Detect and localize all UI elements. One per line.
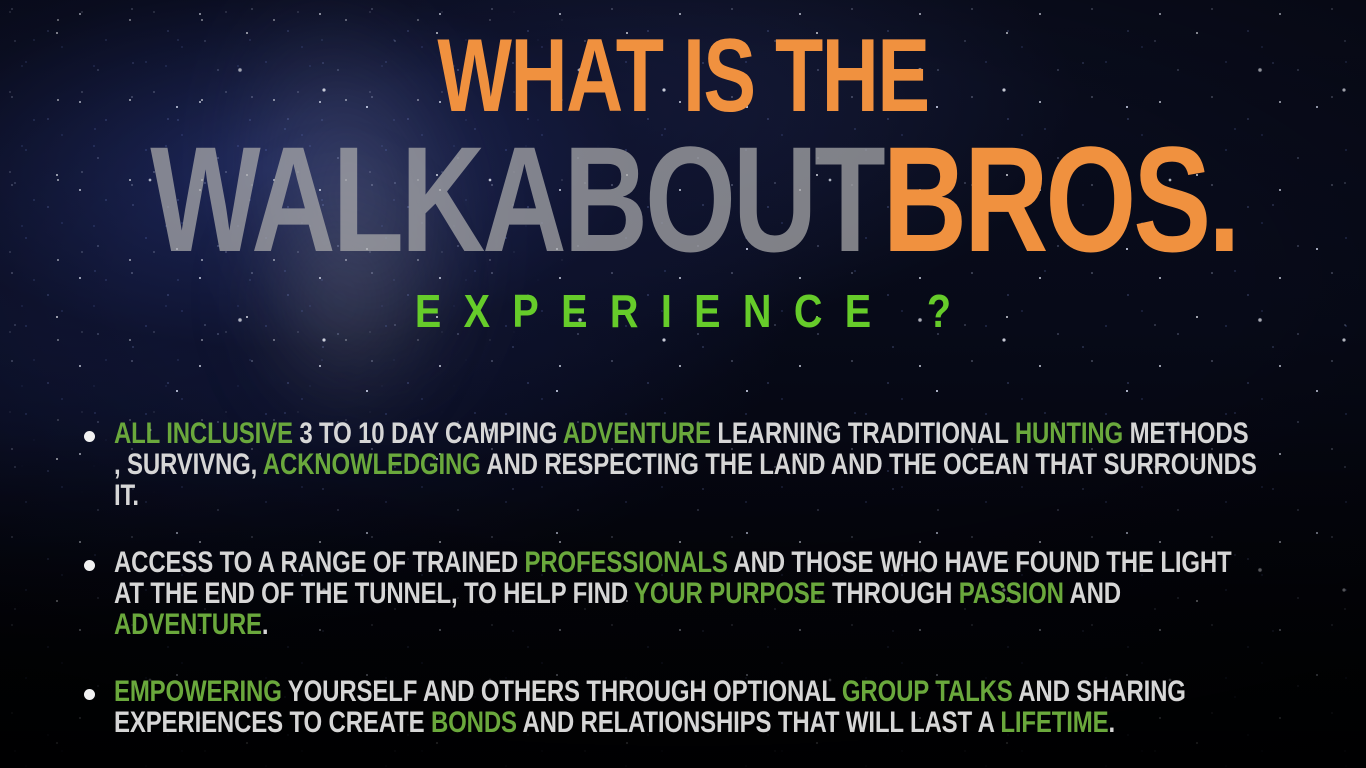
list-item: ALL INCLUSIVE 3 TO 10 DAY CAMPING ADVENT… xyxy=(78,418,1258,511)
body-phrase: AND RELATIONSHIPS THAT WILL LAST A xyxy=(517,706,1001,739)
list-item: ACCESS TO A RANGE OF TRAINED PROFESSIONA… xyxy=(78,547,1258,640)
body-phrase: LEARNING TRADITIONAL xyxy=(711,417,1015,450)
bullet-list: ALL INCLUSIVE 3 TO 10 DAY CAMPING ADVENT… xyxy=(78,418,1258,768)
logo-bros-text: BROS. xyxy=(883,115,1238,283)
bullet-text-access-professionals: ACCESS TO A RANGE OF TRAINED PROFESSIONA… xyxy=(114,547,1258,640)
body-phrase: ACCESS TO A RANGE OF TRAINED xyxy=(114,546,525,579)
bullet-dot-icon xyxy=(84,560,95,571)
highlighted-phrase: PROFESSIONALS xyxy=(525,546,728,579)
body-phrase: 3 TO 10 DAY CAMPING xyxy=(299,417,563,450)
highlighted-phrase: YOUR PURPOSE xyxy=(634,577,825,610)
highlighted-phrase: LIFETIME xyxy=(1000,706,1108,739)
highlighted-phrase: ACKNOWLEDGING xyxy=(263,448,481,481)
logo-wordmark: WALKABOUTBROS. xyxy=(150,135,1215,263)
highlighted-phrase: BONDS xyxy=(431,706,517,739)
presentation-slide: WHAT IS THE WALKABOUTBROS. EXPERIENCE ? … xyxy=(0,0,1366,768)
highlighted-phrase: GROUP TALKS xyxy=(842,675,1013,708)
bullet-text-all-inclusive: ALL INCLUSIVE 3 TO 10 DAY CAMPING ADVENT… xyxy=(114,418,1258,511)
slide-content: WHAT IS THE WALKABOUTBROS. EXPERIENCE ? … xyxy=(0,0,1366,768)
body-phrase: YOURSELF AND OTHERS THROUGH OPTIONAL xyxy=(282,675,842,708)
highlighted-phrase: PASSION xyxy=(959,577,1064,610)
body-phrase: . xyxy=(262,608,269,641)
body-phrase: AND xyxy=(1064,577,1121,610)
headline-what-is-the: WHAT IS THE xyxy=(164,26,1202,126)
body-phrase: . xyxy=(1108,706,1115,739)
highlighted-phrase: HUNTING xyxy=(1015,417,1123,450)
highlighted-phrase: ADVENTURE xyxy=(114,608,262,641)
list-item: EMPOWERING YOURSELF AND OTHERS THROUGH O… xyxy=(78,676,1258,738)
highlighted-phrase: ADVENTURE xyxy=(563,417,711,450)
bullet-text-empowering: EMPOWERING YOURSELF AND OTHERS THROUGH O… xyxy=(114,676,1258,738)
highlighted-phrase: ALL INCLUSIVE xyxy=(114,417,299,450)
bullet-dot-icon xyxy=(84,431,95,442)
highlighted-phrase: EMPOWERING xyxy=(114,675,282,708)
headline-experience: EXPERIENCE ? xyxy=(96,288,1271,334)
bullet-dot-icon xyxy=(84,689,95,700)
body-phrase: THROUGH xyxy=(825,577,958,610)
logo-walkabout-text: WALKABOUT xyxy=(150,115,882,283)
